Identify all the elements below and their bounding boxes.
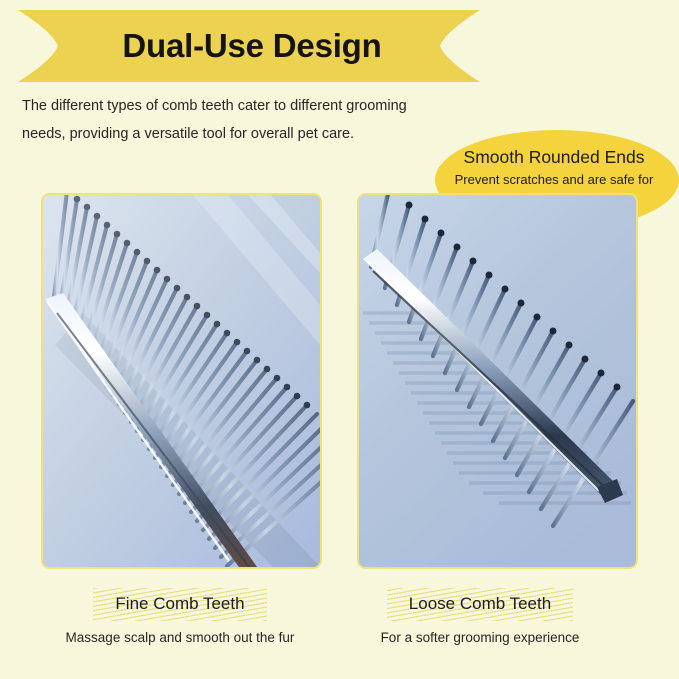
caption-loose-comb: Loose Comb Teeth For a softer grooming e…: [330, 588, 630, 648]
caption-title-label: Loose Comb Teeth: [409, 594, 551, 613]
caption-title-loose: Loose Comb Teeth: [387, 588, 573, 621]
title-banner: Dual-Use Design: [18, 8, 480, 84]
caption-title-fine: Fine Comb Teeth: [93, 588, 266, 621]
intro-paragraph: The different types of comb teeth cater …: [22, 92, 474, 148]
caption-title-label: Fine Comb Teeth: [115, 594, 244, 613]
intro-line-2: needs, providing a versatile tool for ov…: [22, 120, 474, 148]
caption-sub-fine: Massage scalp and smooth out the fur: [30, 628, 330, 648]
infographic-page: { "colors": { "background": "#f7f7dc", "…: [0, 0, 679, 679]
callout-title: Smooth Rounded Ends: [435, 145, 673, 169]
loose-comb-photo: [359, 195, 636, 567]
fine-comb-photo: [43, 195, 320, 567]
page-title: Dual-Use Design: [18, 25, 480, 67]
caption-fine-comb: Fine Comb Teeth Massage scalp and smooth…: [30, 588, 330, 648]
caption-sub-loose: For a softer grooming experience: [330, 628, 630, 648]
photo-panel-fine-comb: [41, 193, 322, 569]
callout-sub-line-1: Prevent scratches and are safe for: [435, 170, 673, 190]
intro-line-1: The different types of comb teeth cater …: [22, 92, 474, 120]
photo-panel-loose-comb: [357, 193, 638, 569]
